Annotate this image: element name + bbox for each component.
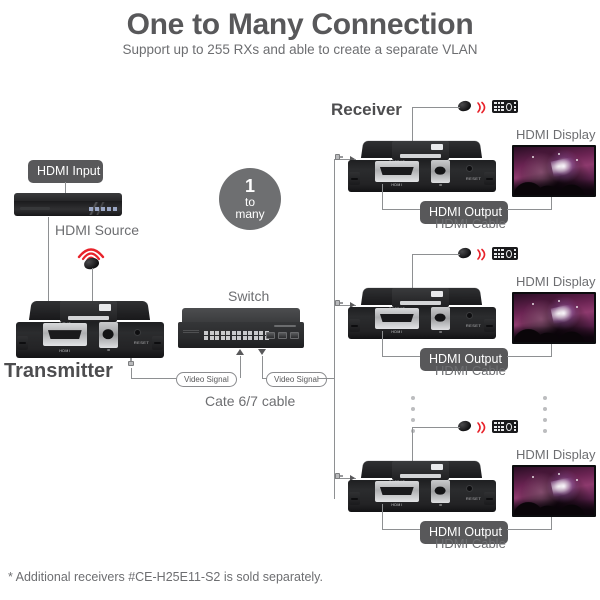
arrow-out-of-switch <box>258 349 266 355</box>
hdmi-cable-label-3: HDMI Cable <box>435 536 506 551</box>
connector-rx3-hdmi-drop <box>382 504 383 529</box>
connector-signal-to-bus <box>318 378 334 379</box>
tx-hdmi-port <box>43 323 87 346</box>
switch-port-bank <box>204 331 269 341</box>
rx2-rear-plate <box>392 288 448 307</box>
switch-label: Switch <box>228 288 269 304</box>
source-disc-tray <box>20 207 50 210</box>
rx3-rear-slot <box>400 474 440 477</box>
connector-ir-lead-rx3 <box>412 427 460 428</box>
rx2-reset-label: RESET <box>466 323 481 328</box>
page-subtitle: Support up to 255 RXs and able to create… <box>0 42 600 57</box>
connector-rx2-display-run <box>507 356 552 357</box>
switch-sfp-ports <box>266 332 299 339</box>
video-signal-badge-right[interactable]: Video Signal <box>266 372 327 387</box>
rx3-reset-label: RESET <box>466 496 481 501</box>
rj45-plug-icon-rx1 <box>335 154 343 160</box>
rx2-ir-port <box>431 307 450 330</box>
rx1-rear-slot <box>400 154 440 157</box>
ir-emitter-icon-rx2 <box>457 247 472 260</box>
diagram-canvas: One to Many Connection Support up to 255… <box>0 0 600 600</box>
connector-ir-lead-rx2 <box>412 254 460 255</box>
tx-mount-ear-right <box>152 336 163 350</box>
rx1-mount-ear-left <box>349 172 360 184</box>
connector-ir-lead-rx1 <box>412 107 460 108</box>
rj45-plug-icon-tx <box>128 358 134 366</box>
rx1-mount-ear-right <box>484 172 495 184</box>
connector-rx2-hdmi-drop <box>382 331 383 356</box>
footer-note: * Additional receivers #CE-H25E11-S2 is … <box>8 570 323 584</box>
connector-rx3-display-run <box>507 529 552 530</box>
connector-tx-to-signal <box>131 378 176 379</box>
tx-hdmi-port-label: HDMI <box>43 349 87 353</box>
remote-control-icon-rx2 <box>492 247 518 260</box>
rx1-ir-port <box>431 160 450 183</box>
connector-signal-right-riser <box>262 356 263 378</box>
transmitter-label: Transmitter <box>4 360 113 383</box>
connector-rx1-display-riser <box>551 197 552 210</box>
switch-brand-mark <box>274 325 296 327</box>
remote-control-icon-rx3 <box>492 420 518 433</box>
rx1-reset-label: RESET <box>466 176 481 181</box>
ir-wave-icon-rx1 <box>476 101 488 114</box>
hdmi-display-label-2: HDMI Display <box>516 274 595 289</box>
connector-rx1-hdmi-run <box>382 209 422 210</box>
transmitter-device: INPUT HDMI IR RESET <box>16 300 164 358</box>
connector-rx1-hdmi-drop <box>382 184 383 209</box>
tx-rear-label <box>99 304 111 311</box>
arrow-into-switch <box>236 349 244 355</box>
receiver-device-1: OUTPUT HDMI IR RESET <box>348 140 496 192</box>
rx2-mount-ear-left <box>349 319 360 331</box>
page-title: One to Many Connection <box>0 8 600 42</box>
network-switch-device <box>178 308 304 348</box>
source-led-strip <box>89 207 117 211</box>
hdmi-display-label-1: HDMI Display <box>516 127 595 142</box>
rx3-ir-port <box>431 480 450 503</box>
rx3-mount-ear-right <box>484 492 495 504</box>
display-screen-1 <box>514 147 594 195</box>
connector-rx1-display-run <box>507 209 552 210</box>
distribution-bus-line <box>334 159 335 499</box>
hdmi-cable-label-2: HDMI Cable <box>435 363 506 378</box>
switch-top-shell <box>182 308 300 323</box>
hdmi-input-badge: HDMI Input <box>28 160 103 183</box>
rx3-rear-plate <box>392 461 448 480</box>
receiver-device-2: OUTPUT HDMI IR RESET <box>348 287 496 339</box>
rx2-rear-slot <box>400 301 440 304</box>
ratio-line-1: 1 <box>245 177 255 196</box>
ir-wave-icon-rx3 <box>476 421 488 434</box>
rx2-ir-port-label: IR <box>431 330 450 334</box>
remote-control-icon-rx1 <box>492 100 518 113</box>
tx-rear-slot <box>68 316 108 320</box>
hdmi-display-3 <box>512 465 596 517</box>
ir-emitter-icon-rx1 <box>457 100 472 113</box>
rx3-rear-label <box>431 464 443 470</box>
tx-reset-label: RESET <box>134 340 149 345</box>
connector-input-to-source <box>65 182 66 193</box>
rx3-hdmi-port <box>375 481 419 502</box>
rx3-ir-port-label: IR <box>431 503 450 507</box>
connector-rx3-display-riser <box>551 517 552 530</box>
receiver-heading: Receiver <box>331 100 402 120</box>
rj45-plug-icon-rx3 <box>335 473 343 479</box>
hdmi-display-1 <box>512 145 596 197</box>
vertical-ellipsis-icon-right <box>543 396 547 433</box>
hdmi-cable-label-1: HDMI Cable <box>435 216 506 231</box>
rx1-rear-plate <box>392 141 448 160</box>
rx3-mount-ear-left <box>349 492 360 504</box>
connector-rx2-hdmi-run <box>382 356 422 357</box>
rx2-hdmi-port <box>375 308 419 329</box>
tx-rear-plate <box>60 301 116 322</box>
rx1-ir-port-label: IR <box>431 183 450 187</box>
hdmi-display-label-3: HDMI Display <box>516 447 595 462</box>
connector-rx2-display-riser <box>551 344 552 357</box>
connector-ir-to-tx <box>92 268 93 302</box>
connector-signal-left-riser <box>240 356 241 378</box>
one-to-many-badge: 1 to many <box>219 168 281 230</box>
ir-emitter-icon-rx3 <box>457 420 472 433</box>
rx2-rear-label <box>431 291 443 297</box>
tx-ir-port-label: IR <box>99 348 118 352</box>
rx1-rear-label <box>431 144 443 150</box>
display-screen-2 <box>514 294 594 342</box>
tx-mount-ear-left <box>17 336 28 350</box>
switch-vent <box>183 330 199 334</box>
tx-ir-port <box>99 322 118 348</box>
ir-wave-icon-rx2 <box>476 248 488 261</box>
receiver-device-3: OUTPUT HDMI IR RESET <box>348 460 496 512</box>
hdmi-display-2 <box>512 292 596 344</box>
connector-rx3-hdmi-run <box>382 529 422 530</box>
rx2-mount-ear-right <box>484 319 495 331</box>
hdmi-source-device <box>14 193 122 217</box>
ratio-line-3: many <box>235 208 264 221</box>
video-signal-badge-left[interactable]: Video Signal <box>176 372 237 387</box>
cate-cable-label: Cate 6/7 cable <box>205 393 295 409</box>
rj45-plug-icon-rx2 <box>335 300 343 306</box>
display-screen-3 <box>514 467 594 515</box>
hdmi-source-label: HDMI Source <box>55 222 139 238</box>
rx1-hdmi-port <box>375 161 419 182</box>
